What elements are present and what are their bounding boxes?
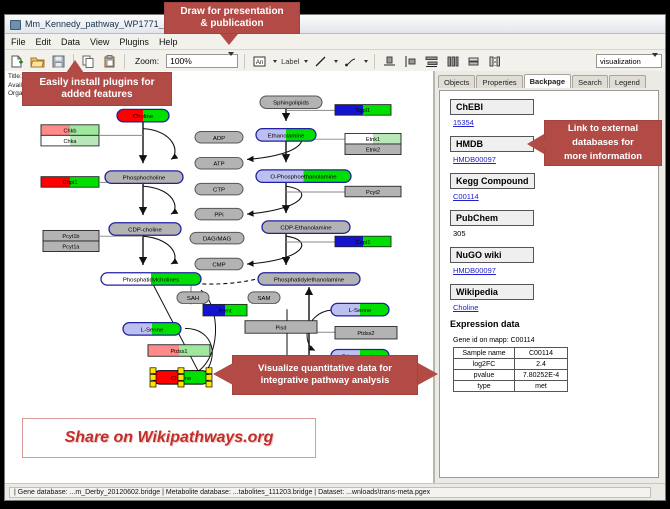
gene-node[interactable]: Pcyt1a	[43, 241, 99, 252]
metabolite-label: O-Phosphoethanolamine	[270, 175, 336, 181]
group-icon[interactable]	[486, 53, 503, 70]
metabolite-label: L-Serine	[141, 327, 164, 333]
section-header-chebi: ChEBI	[450, 99, 534, 115]
expression-key: Sample name	[454, 348, 515, 359]
metabolite-label: Sphingolipids	[273, 101, 309, 107]
gene-node[interactable]: Chkb	[41, 125, 99, 136]
metabolite-node[interactable]: Sphingolipids	[260, 96, 322, 108]
callout-share: Share on Wikipathways.org	[22, 418, 316, 458]
gene-label: Pcyt1a	[62, 245, 80, 251]
callout-visualize: Visualize quantitative data for integrat…	[232, 355, 418, 395]
stack-icon[interactable]	[465, 53, 482, 70]
metabolite-label: Phosphocholine	[123, 176, 166, 182]
title-bar: Mm_Kennedy_pathway_WP1771_45176.gpml	[5, 15, 665, 34]
callout-draw-line2: & publication	[180, 18, 283, 30]
gene-label: Ptdss2	[357, 331, 374, 337]
expression-data-title: Expression data	[450, 319, 650, 329]
save-file-icon[interactable]	[50, 53, 67, 70]
metabolite-node[interactable]: O-Phosphoethanolamine	[256, 170, 351, 182]
metabolite-label: SAH	[187, 296, 199, 302]
expression-value: met	[515, 381, 568, 392]
metabolite-node[interactable]: Phosphatidylethanolamine	[258, 273, 360, 285]
metabolite-node[interactable]: L-Serine	[123, 323, 181, 335]
callout-visualize-line1: Visualize quantitative data for	[258, 363, 392, 375]
selection-handle[interactable]	[206, 375, 212, 381]
expression-table: Sample name C00114 log2FC 2.4 pvalue 7.8…	[453, 347, 568, 392]
value-pubchem: 305	[453, 229, 650, 238]
metabolite-node[interactable]: SAH	[177, 292, 209, 304]
line-dropdown-icon[interactable]	[334, 60, 338, 63]
gene-label: Chkb	[63, 128, 76, 134]
zoom-value: 100%	[170, 56, 192, 66]
interaction-tool-icon[interactable]	[342, 53, 359, 70]
selection-handle[interactable]	[150, 368, 156, 374]
metabolite-label: ATP	[213, 162, 224, 168]
metabolite-label: L-Serine	[349, 308, 372, 314]
table-row: Sample name C00114	[454, 348, 568, 359]
callout-links: Link to external databases for more info…	[544, 120, 662, 166]
menu-item-plugins[interactable]: Plugins	[119, 37, 149, 47]
metabolite-node[interactable]: DAG/MAG	[190, 232, 244, 244]
expression-value: 7.80252E-4	[515, 370, 568, 381]
selection-handle[interactable]	[206, 368, 212, 374]
gene-label: Pemt	[218, 309, 232, 315]
expression-key: pvalue	[454, 370, 515, 381]
section-header-kegg: Kegg Compound	[450, 173, 535, 189]
metabolite-label: Ethanolamine	[268, 133, 305, 139]
metabolite-label: CDP-choline	[128, 228, 162, 234]
callout-draw-arrow-icon	[220, 34, 238, 45]
shape-tool-icon[interactable]: An	[251, 53, 268, 70]
gene-node[interactable]: Pcyt2	[345, 186, 401, 197]
metabolite-label: CDP-Ethanolamine	[280, 226, 331, 232]
callout-draw-line1: Draw for presentation	[180, 6, 283, 18]
toolbar-separator-2	[124, 54, 125, 69]
link-kegg[interactable]: C00114	[453, 192, 650, 201]
section-header-pubchem: PubChem	[450, 210, 534, 226]
gene-label: Pcyt1b	[62, 234, 79, 240]
tab-backpage[interactable]: Backpage	[524, 74, 571, 88]
metabolite-label: Choline	[133, 114, 153, 120]
tab-properties[interactable]: Properties	[476, 75, 522, 88]
selection-handle[interactable]	[178, 375, 184, 381]
gene-node[interactable]: Ptdss1	[148, 345, 210, 357]
tab-legend[interactable]: Legend	[609, 75, 646, 88]
gene-label: Etnk1	[366, 137, 380, 143]
distribute-vertical-icon[interactable]	[423, 53, 440, 70]
gene-node[interactable]: Pisd	[245, 321, 317, 333]
selection-handle[interactable]	[178, 381, 184, 387]
gene-node[interactable]: Pcyt1b	[43, 230, 99, 241]
gene-label: Etnk2	[366, 148, 380, 154]
callout-links-line3: more information	[564, 150, 642, 164]
link-wikipedia[interactable]: Choline	[453, 303, 650, 312]
zoom-combo[interactable]: 100%	[166, 54, 238, 68]
align-top-icon[interactable]	[381, 53, 398, 70]
metabolite-node[interactable]: Choline	[117, 109, 169, 121]
expression-value: 2.4	[515, 359, 568, 370]
gene-id-line: Gene id on mapp: C00114	[453, 337, 650, 344]
gene-node[interactable]: Etnk1	[345, 133, 401, 144]
metabolite-node[interactable]: CDP-choline	[109, 223, 181, 235]
menu-item-file[interactable]: File	[11, 37, 26, 47]
callout-share-text: Share on Wikipathways.org	[65, 429, 274, 447]
table-row: pvalue 7.80252E-4	[454, 370, 568, 381]
side-panel-tabs: Objects Properties Backpage Search Legen…	[435, 71, 665, 88]
menu-item-view[interactable]: View	[90, 37, 109, 47]
callout-links-line2: databases for	[564, 136, 642, 150]
metabolite-label: ADP	[213, 136, 225, 142]
tab-search[interactable]: Search	[572, 75, 608, 88]
visualization-value: visualization	[600, 57, 641, 66]
callout-draw: Draw for presentation & publication	[164, 2, 300, 34]
gene-node[interactable]: Chpt1	[41, 177, 99, 188]
toolbar-separator-4	[374, 54, 375, 69]
section-header-nugo: NuGO wiki	[450, 247, 534, 263]
metabolite-label: Phosphatidylethanolamine	[274, 278, 344, 284]
section-header-wikipedia: Wikipedia	[450, 284, 534, 300]
metabolite-node[interactable]: Choline	[150, 368, 212, 387]
callout-visualize-arrow-right-icon	[418, 363, 438, 385]
distribute-horizontal-icon[interactable]	[444, 53, 461, 70]
open-file-icon[interactable]	[29, 53, 46, 70]
metabolite-label: DAG/MAG	[203, 237, 232, 243]
gene-node[interactable]: Ptdss2	[335, 326, 397, 338]
gene-label: Ptdss1	[170, 349, 187, 355]
label-tool-label[interactable]: Label	[281, 57, 299, 66]
gene-label: Cept1	[356, 240, 371, 246]
metabolite-label: SAM	[258, 296, 271, 302]
tool-bar: Zoom: 100% An Label	[5, 50, 665, 73]
gene-label: Chpt1	[63, 180, 78, 186]
metabolite-node[interactable]: ADP	[195, 132, 243, 144]
gene-label: Pisd	[276, 325, 287, 331]
metabolite-node[interactable]: CTP	[195, 183, 243, 195]
callout-links-line1: Link to external	[564, 122, 642, 136]
metabolite-label: CMP	[212, 263, 225, 269]
callout-links-arrow-stem	[540, 139, 548, 149]
menu-bar: File Edit Data View Plugins Help	[5, 34, 665, 50]
callout-plugins: Easily install plugins for added feature…	[22, 72, 172, 106]
section-header-hmdb: HMDB	[450, 136, 534, 152]
link-nugo[interactable]: HMDB00097	[453, 266, 650, 275]
zoom-label: Zoom:	[135, 56, 159, 66]
menu-item-edit[interactable]: Edit	[36, 37, 52, 47]
menu-item-help[interactable]: Help	[159, 37, 178, 47]
paste-icon[interactable]	[101, 53, 118, 70]
new-file-icon[interactable]	[8, 53, 25, 70]
tab-objects[interactable]: Objects	[438, 75, 475, 88]
expression-key: type	[454, 381, 515, 392]
chevron-down-icon[interactable]	[228, 56, 234, 66]
metabolite-label: CTP	[213, 188, 225, 194]
table-row: type met	[454, 381, 568, 392]
gene-label: Sgpl1	[356, 108, 370, 114]
toolbar-separator-3	[244, 54, 245, 69]
shape-dropdown-icon[interactable]	[273, 60, 277, 63]
status-bar-text: | Gene database: ...m_Derby_20120602.bri…	[9, 487, 651, 498]
selection-handle[interactable]	[178, 368, 184, 374]
expression-key: log2FC	[454, 359, 515, 370]
metabolite-node[interactable]: Ethanolamine	[256, 129, 316, 141]
metabolite-node[interactable]: CMP	[195, 258, 243, 270]
selection-handle[interactable]	[150, 375, 156, 381]
svg-text:An: An	[256, 60, 263, 66]
selection-handle[interactable]	[150, 381, 156, 387]
metabolite-node[interactable]: SAM	[248, 292, 280, 304]
callout-plugins-line1: Easily install plugins for	[39, 77, 154, 89]
gene-node[interactable]: Sgpl1	[335, 105, 391, 116]
table-row: log2FC 2.4	[454, 359, 568, 370]
metabolite-node[interactable]: L-Serine	[331, 303, 389, 315]
align-left-icon[interactable]	[402, 53, 419, 70]
gene-node[interactable]: Etnk2	[345, 144, 401, 155]
metabolite-node[interactable]: CDP-Ethanolamine	[262, 221, 350, 233]
gene-node[interactable]: Pemt	[203, 304, 247, 316]
gene-node[interactable]: Chka	[41, 135, 99, 146]
label-dropdown-icon[interactable]	[304, 60, 308, 63]
metabolite-node[interactable]: ATP	[195, 157, 243, 169]
visualization-combo[interactable]: visualization	[596, 54, 662, 68]
line-tool-icon[interactable]	[312, 53, 329, 70]
callout-visualize-arrow-left-icon	[213, 363, 233, 385]
callout-plugins-line2: added features	[39, 89, 154, 101]
menu-item-data[interactable]: Data	[61, 37, 80, 47]
callout-plugins-arrow-stem	[71, 70, 81, 76]
screenshot-root: Mm_Kennedy_pathway_WP1771_45176.gpml Fil…	[0, 0, 670, 509]
expression-value: C00114	[515, 348, 568, 359]
interaction-dropdown-icon[interactable]	[364, 60, 368, 63]
callout-visualize-line2: integrative pathway analysis	[258, 375, 392, 387]
metabolite-node[interactable]: Phosphatidylcholines	[101, 273, 201, 285]
gene-label: Pcyt2	[366, 190, 380, 196]
status-bar: | Gene database: ...m_Derby_20120602.bri…	[5, 483, 665, 500]
metabolite-node[interactable]: Phosphocholine	[105, 171, 183, 183]
selection-handle[interactable]	[206, 381, 212, 387]
metabolite-node[interactable]: PPi	[195, 208, 243, 220]
gene-node[interactable]: Cept1	[335, 236, 391, 247]
metabolite-label: Phosphatidylcholines	[123, 278, 179, 284]
gene-label: Chka	[63, 139, 77, 145]
metabolite-label: PPi	[214, 213, 223, 219]
visualization-chevron-icon[interactable]	[652, 57, 658, 66]
app-icon	[10, 19, 20, 29]
